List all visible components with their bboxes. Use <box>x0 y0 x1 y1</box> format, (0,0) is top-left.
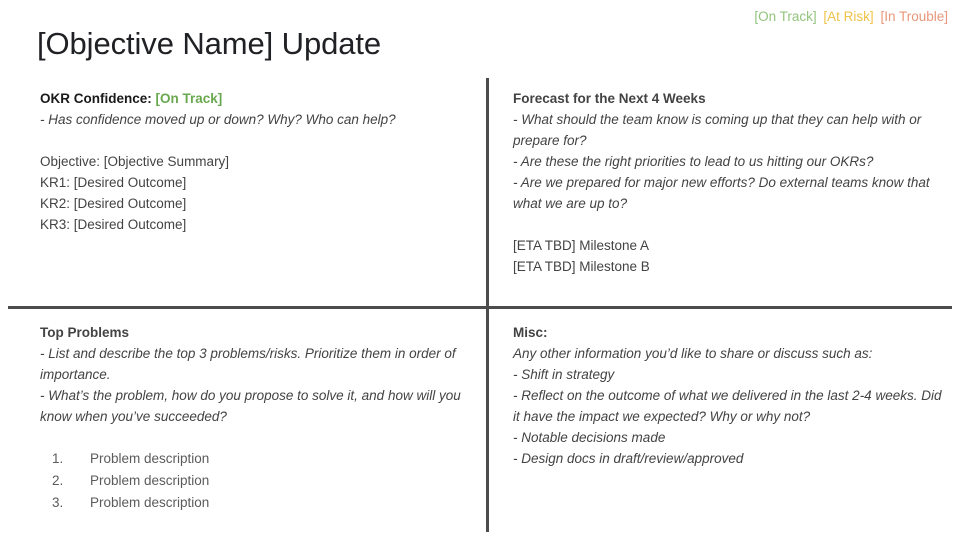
list-item-label: Problem description <box>90 448 209 470</box>
forecast-prompt: - Are we prepared for major new efforts?… <box>513 172 949 214</box>
kr1-line: KR1: [Desired Outcome] <box>40 172 472 193</box>
misc-bullet: - Design docs in draft/review/approved <box>513 448 949 469</box>
quadrant-forecast: Forecast for the Next 4 Weeks - What sho… <box>513 89 949 277</box>
kr3-line: KR3: [Desired Outcome] <box>40 214 472 235</box>
okr-confidence-status: [On Track] <box>156 91 223 106</box>
okr-confidence-heading: OKR Confidence: [On Track] <box>40 89 472 108</box>
okr-confidence-label: OKR Confidence: <box>40 91 152 106</box>
list-item: 3. Problem description <box>40 492 472 514</box>
kr2-line: KR2: [Desired Outcome] <box>40 193 472 214</box>
milestone-line: [ETA TBD] Milestone A <box>513 235 949 256</box>
milestone-line: [ETA TBD] Milestone B <box>513 256 949 277</box>
legend-chip-at-risk: [At Risk] <box>823 9 873 24</box>
legend-chip-on-track: [On Track] <box>754 9 816 24</box>
quadrant-okr-confidence: OKR Confidence: [On Track] - Has confide… <box>40 89 472 235</box>
top-problems-prompt: - List and describe the top 3 problems/r… <box>40 343 472 385</box>
list-item-label: Problem description <box>90 470 209 492</box>
page-title: [Objective Name] Update <box>37 24 381 64</box>
misc-heading: Misc: <box>513 323 949 342</box>
quadrant-misc: Misc: Any other information you’d like t… <box>513 323 949 469</box>
misc-bullet: - Notable decisions made <box>513 427 949 448</box>
legend-chip-in-trouble: [In Trouble] <box>880 9 948 24</box>
misc-bullet: - Shift in strategy <box>513 364 949 385</box>
list-item-number: 2. <box>40 470 90 492</box>
misc-intro: Any other information you’d like to shar… <box>513 343 949 364</box>
list-item: 2. Problem description <box>40 470 472 492</box>
quadrant-top-problems: Top Problems - List and describe the top… <box>40 323 472 514</box>
forecast-prompt: - Are these the right priorities to lead… <box>513 151 949 172</box>
forecast-heading: Forecast for the Next 4 Weeks <box>513 89 949 108</box>
forecast-prompt: - What should the team know is coming up… <box>513 109 949 151</box>
horizontal-divider <box>8 306 952 309</box>
okr-confidence-prompt: - Has confidence moved up or down? Why? … <box>40 109 472 130</box>
status-legend: [On Track] [At Risk] [In Trouble] <box>751 8 948 26</box>
list-item-label: Problem description <box>90 492 209 514</box>
spacer <box>40 130 472 151</box>
objective-line: Objective: [Objective Summary] <box>40 151 472 172</box>
list-item-number: 1. <box>40 448 90 470</box>
misc-bullet: - Reflect on the outcome of what we deli… <box>513 385 949 427</box>
spacer <box>513 214 949 235</box>
list-item-number: 3. <box>40 492 90 514</box>
vertical-divider <box>486 78 489 532</box>
top-problems-heading: Top Problems <box>40 323 472 342</box>
spacer <box>40 427 472 448</box>
top-problems-prompt: - What’s the problem, how do you propose… <box>40 385 472 427</box>
problem-list: 1. Problem description 2. Problem descri… <box>40 448 472 514</box>
list-item: 1. Problem description <box>40 448 472 470</box>
